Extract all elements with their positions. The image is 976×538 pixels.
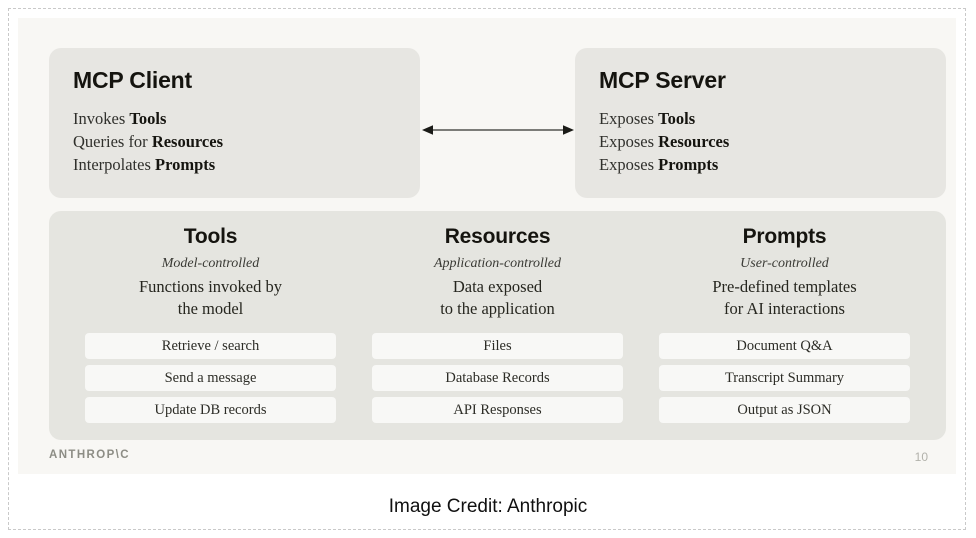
column-tools-chip-list: Retrieve / search Send a message Update …: [85, 333, 336, 423]
mcp-server-line-keyword: Tools: [658, 109, 695, 128]
mcp-server-line-prefix: Exposes: [599, 155, 658, 174]
mcp-client-title: MCP Client: [73, 68, 396, 93]
mcp-server-line-keyword: Resources: [658, 132, 729, 151]
column-tools-description: Functions invoked by the model: [139, 276, 282, 320]
chip-item[interactable]: API Responses: [372, 397, 623, 423]
column-prompts-description-line: Pre-defined templates: [712, 276, 856, 298]
column-tools-description-line: the model: [139, 298, 282, 320]
column-resources-description-line: Data exposed: [440, 276, 555, 298]
mcp-client-line: Queries for Resources: [73, 130, 396, 153]
mcp-server-line-prefix: Exposes: [599, 109, 658, 128]
chip-item[interactable]: Transcript Summary: [659, 365, 910, 391]
chip-item[interactable]: Document Q&A: [659, 333, 910, 359]
mcp-client-line-prefix: Interpolates: [73, 155, 155, 174]
mcp-client-line-prefix: Queries for: [73, 132, 152, 151]
mcp-server-line-keyword: Prompts: [658, 155, 718, 174]
chip-item[interactable]: Update DB records: [85, 397, 336, 423]
mcp-client-line: Invokes Tools: [73, 107, 396, 130]
mcp-server-line-prefix: Exposes: [599, 132, 658, 151]
column-resources-subtitle: Application-controlled: [434, 255, 561, 273]
primitives-panel: Tools Model-controlled Functions invoked…: [49, 211, 946, 440]
mcp-client-line-keyword: Prompts: [155, 155, 215, 174]
column-resources-description: Data exposed to the application: [440, 276, 555, 320]
column-prompts-subtitle: User-controlled: [740, 255, 829, 273]
chip-item[interactable]: Database Records: [372, 365, 623, 391]
image-credit-caption: Image Credit: Anthropic: [9, 496, 967, 518]
column-prompts-description: Pre-defined templates for AI interaction…: [712, 276, 856, 320]
double-headed-arrow-icon: [420, 113, 576, 147]
mcp-server-card: MCP Server Exposes Tools Exposes Resourc…: [575, 48, 946, 198]
chip-item[interactable]: Files: [372, 333, 623, 359]
column-tools-subtitle: Model-controlled: [162, 255, 259, 273]
anthropic-wordmark: ANTHROP\C: [49, 449, 130, 461]
mcp-server-title: MCP Server: [599, 68, 922, 93]
mcp-client-line-prefix: Invokes: [73, 109, 129, 128]
slide-footer: ANTHROP\C 10: [18, 440, 956, 474]
mcp-client-line: Interpolates Prompts: [73, 153, 396, 176]
mcp-server-line: Exposes Tools: [599, 107, 922, 130]
column-resources-title: Resources: [445, 225, 551, 249]
mcp-client-line-keyword: Tools: [129, 109, 166, 128]
column-resources-chip-list: Files Database Records API Responses: [372, 333, 623, 423]
column-resources: Resources Application-controlled Data ex…: [354, 225, 641, 424]
mcp-server-line: Exposes Prompts: [599, 153, 922, 176]
page-number: 10: [915, 450, 928, 464]
column-prompts-chip-list: Document Q&A Transcript Summary Output a…: [659, 333, 910, 423]
figure-frame: MCP Client Invokes Tools Queries for Res…: [8, 8, 966, 530]
column-prompts: Prompts User-controlled Pre-defined temp…: [641, 225, 928, 424]
chip-item[interactable]: Output as JSON: [659, 397, 910, 423]
column-tools-title: Tools: [184, 225, 237, 249]
slide-canvas: MCP Client Invokes Tools Queries for Res…: [18, 18, 956, 474]
chip-item[interactable]: Retrieve / search: [85, 333, 336, 359]
column-prompts-description-line: for AI interactions: [712, 298, 856, 320]
mcp-client-line-keyword: Resources: [152, 132, 223, 151]
column-tools: Tools Model-controlled Functions invoked…: [67, 225, 354, 424]
mcp-client-card: MCP Client Invokes Tools Queries for Res…: [49, 48, 420, 198]
column-resources-description-line: to the application: [440, 298, 555, 320]
column-tools-description-line: Functions invoked by: [139, 276, 282, 298]
column-prompts-title: Prompts: [743, 225, 827, 249]
mcp-server-line: Exposes Resources: [599, 130, 922, 153]
chip-item[interactable]: Send a message: [85, 365, 336, 391]
